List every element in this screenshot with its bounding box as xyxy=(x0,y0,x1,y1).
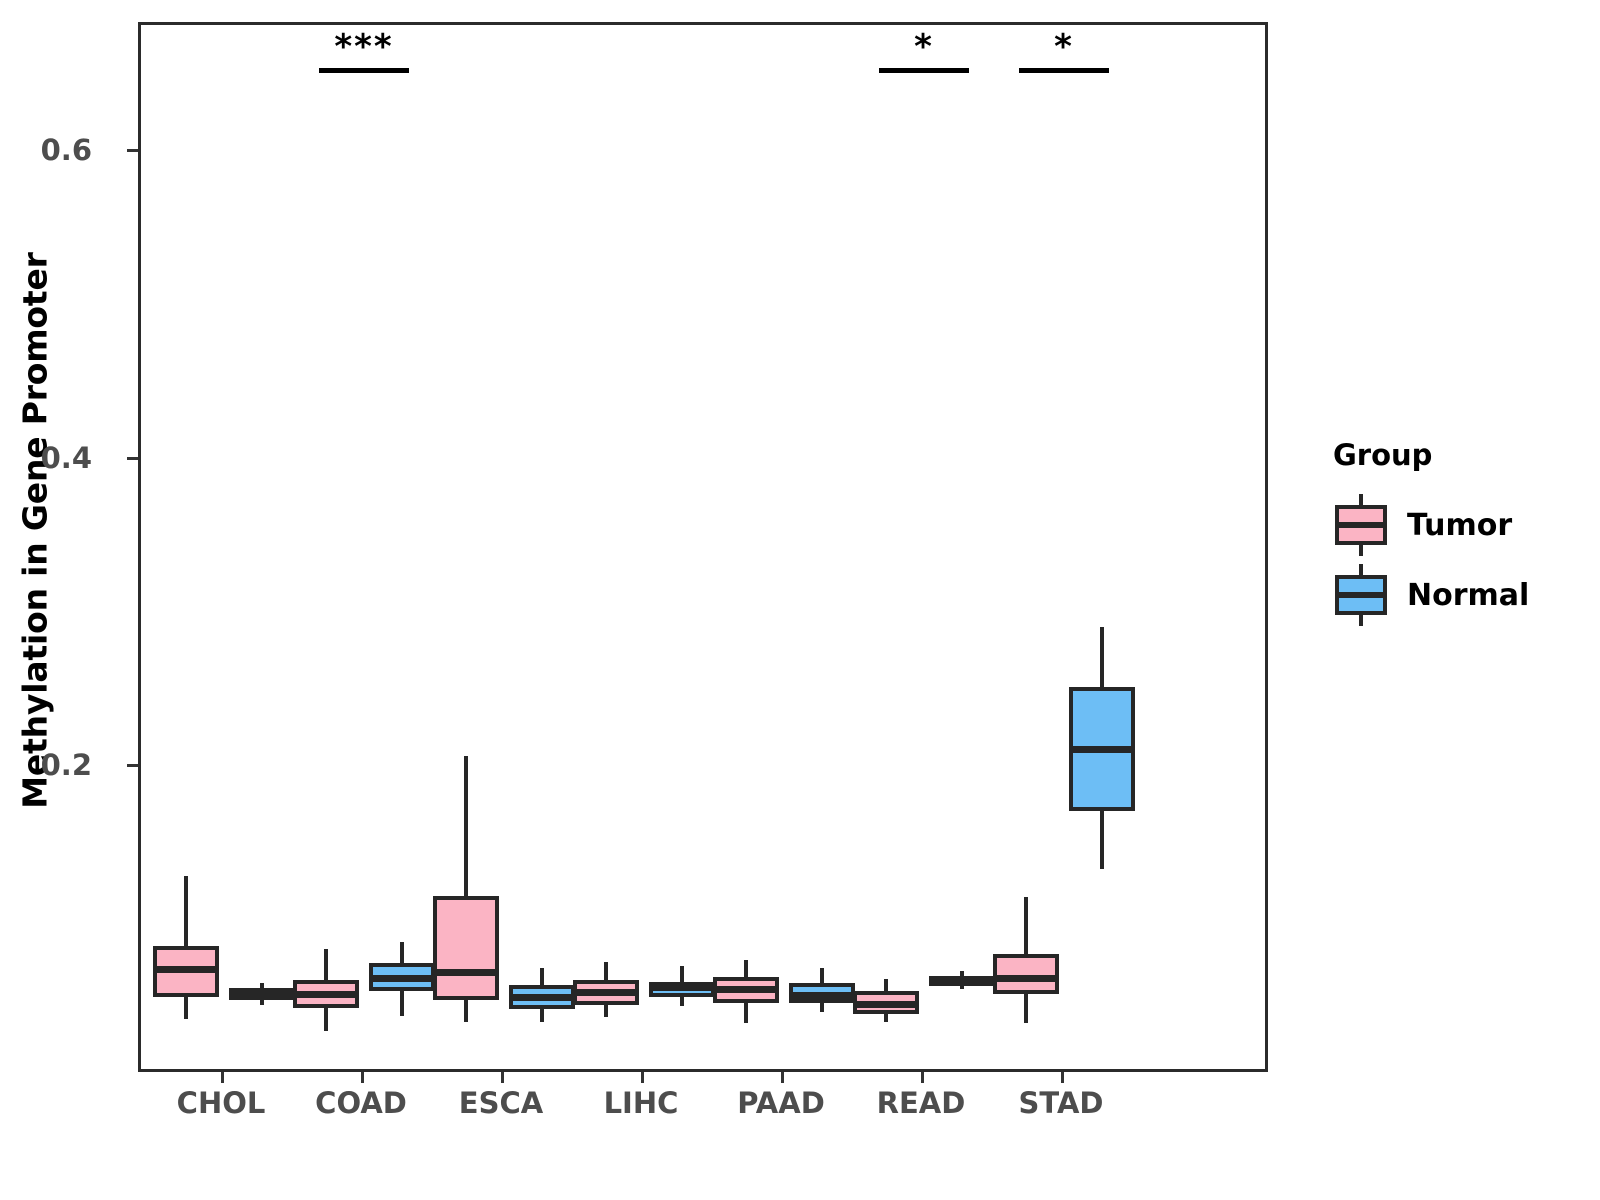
legend-title: Group xyxy=(1333,438,1583,472)
y-tick-mark xyxy=(127,457,138,460)
x-tick-label-stad: STAD xyxy=(961,1086,1161,1120)
median-line xyxy=(649,984,715,991)
median-line xyxy=(789,992,855,999)
significance-bar-coad xyxy=(319,68,409,73)
median-line xyxy=(153,966,219,973)
median-line xyxy=(229,991,295,998)
significance-bar-stad xyxy=(1019,68,1109,73)
median-line xyxy=(929,977,995,984)
x-tick-mark xyxy=(221,1072,224,1083)
x-tick-mark xyxy=(1061,1072,1064,1083)
whisker-lower xyxy=(260,1000,264,1005)
whisker-lower xyxy=(604,1005,608,1017)
significance-label-stad: * xyxy=(1054,30,1074,64)
legend-median-line xyxy=(1335,592,1387,598)
legend-label-normal: Normal xyxy=(1407,578,1529,613)
whisker-lower xyxy=(464,1000,468,1022)
whisker-lower xyxy=(820,1003,824,1012)
legend-whisker-bottom xyxy=(1359,614,1363,626)
legend-entries: TumorNormal xyxy=(1333,494,1583,626)
y-tick-mark xyxy=(127,149,138,152)
whisker-upper xyxy=(464,756,468,896)
whisker-upper xyxy=(184,876,188,947)
y-tick-label: 0.6 xyxy=(0,133,92,167)
whisker-lower xyxy=(400,991,404,1016)
whisker-lower xyxy=(184,997,188,1019)
whisker-lower xyxy=(540,1009,544,1021)
whisker-upper xyxy=(324,949,328,980)
significance-bar-read xyxy=(879,68,969,73)
x-tick-mark xyxy=(781,1072,784,1083)
whisker-lower xyxy=(884,1014,888,1022)
y-axis-title-text: Methylation in Gene Promoter xyxy=(16,252,55,808)
significance-label-read: * xyxy=(914,30,934,64)
whisker-upper xyxy=(680,966,684,981)
boxplot-figure: Methylation in Gene Promoter 0.20.40.6 *… xyxy=(0,0,1600,1200)
median-line xyxy=(433,969,499,976)
median-line xyxy=(573,989,639,996)
plot-panel: ***** xyxy=(138,22,1268,1072)
y-tick-mark xyxy=(127,764,138,767)
legend-label-tumor: Tumor xyxy=(1407,508,1512,543)
whisker-upper xyxy=(400,942,404,964)
whisker-upper xyxy=(1024,897,1028,954)
whisker-upper xyxy=(884,979,888,991)
x-tick-mark xyxy=(641,1072,644,1083)
median-line xyxy=(369,975,435,982)
whisker-upper xyxy=(820,968,824,983)
x-tick-mark xyxy=(361,1072,364,1083)
median-line xyxy=(509,994,575,1001)
whisker-lower xyxy=(680,997,684,1006)
x-tick-mark xyxy=(921,1072,924,1083)
median-line xyxy=(713,986,779,993)
median-line xyxy=(1069,746,1135,753)
whisker-lower xyxy=(324,1008,328,1031)
legend-key-normal xyxy=(1333,564,1389,626)
significance-label-coad: *** xyxy=(334,30,393,64)
box-stad-tumor xyxy=(993,954,1059,994)
median-line xyxy=(993,975,1059,982)
legend-entry-normal[interactable]: Normal xyxy=(1333,564,1583,626)
legend-entry-tumor[interactable]: Tumor xyxy=(1333,494,1583,556)
legend: Group TumorNormal xyxy=(1333,438,1583,634)
whisker-upper xyxy=(604,962,608,980)
y-tick-label: 0.4 xyxy=(0,441,92,475)
median-line xyxy=(853,1001,919,1008)
legend-key-tumor xyxy=(1333,494,1389,556)
whisker-lower xyxy=(1100,811,1104,869)
legend-median-line xyxy=(1335,522,1387,528)
legend-whisker-bottom xyxy=(1359,544,1363,556)
whisker-upper xyxy=(1100,627,1104,687)
box-esca-tumor xyxy=(433,896,499,1001)
median-line xyxy=(293,991,359,998)
x-tick-mark xyxy=(501,1072,504,1083)
whisker-lower xyxy=(1024,994,1028,1023)
y-tick-label: 0.2 xyxy=(0,748,92,782)
whisker-upper xyxy=(744,960,748,977)
whisker-upper xyxy=(540,968,544,985)
whisker-lower xyxy=(744,1003,748,1023)
